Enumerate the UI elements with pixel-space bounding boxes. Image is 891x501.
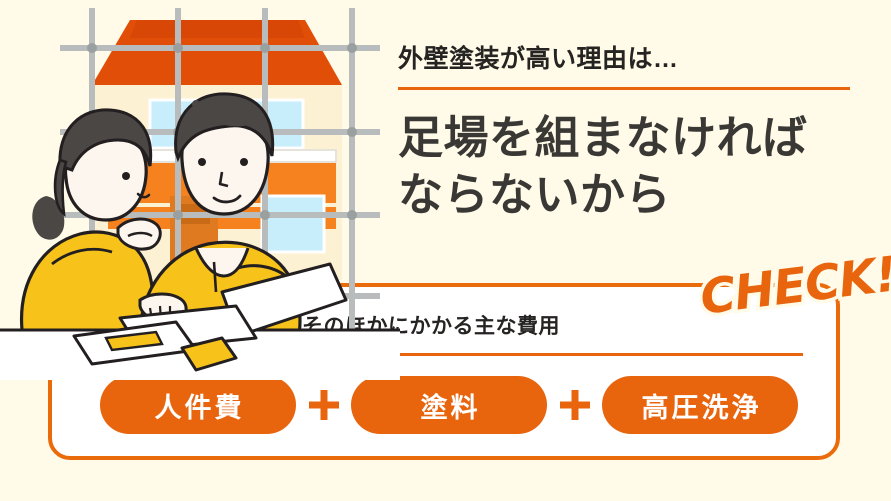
eyebrow-divider: [398, 87, 850, 90]
check-badge: CHECK!: [697, 246, 891, 326]
main-headline-line-1: 足場を組まなければ: [398, 110, 858, 167]
eyebrow-text: 外壁塗装が高い理由は…: [398, 44, 858, 74]
cost-items-row: 人件費 塗料 高圧洗浄: [100, 375, 800, 435]
infographic-canvas: 外壁塗装が高い理由は… 足場を組まなければ ならないから そのほかにかかる主な費…: [0, 0, 891, 501]
cost-pill-paint[interactable]: 塗料: [351, 376, 547, 434]
main-headline-line-2: ならないから: [398, 167, 858, 224]
illustration-house-and-people: [0, 0, 400, 380]
main-headline: 足場を組まなければ ならないから: [398, 110, 858, 223]
cost-pill-pressure-wash[interactable]: 高圧洗浄: [602, 376, 798, 434]
plus-icon-2: [547, 376, 602, 434]
cost-pill-labor[interactable]: 人件費: [100, 376, 296, 434]
headline-block: 外壁塗装が高い理由は… 足場を組まなければ ならないから: [398, 44, 858, 223]
plus-icon-1: [296, 376, 351, 434]
